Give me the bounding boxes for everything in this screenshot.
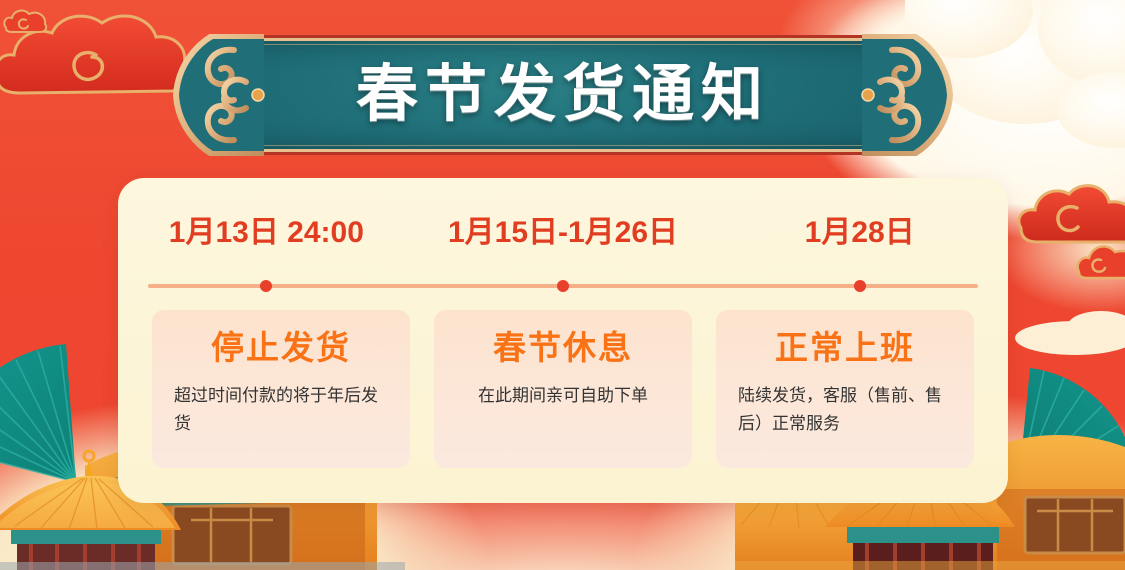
timeline-dot-icon: [854, 280, 866, 292]
timeline-date-cell: 1月13日 24:00: [118, 216, 415, 249]
timeline-dot-icon: [557, 280, 569, 292]
info-card-heading: 停止发货: [174, 330, 388, 366]
timeline-dot-cell: [118, 278, 415, 294]
timeline-date-label: 1月28日: [805, 216, 915, 249]
content-panel: 1月13日 24:00 1月15日-1月26日 1月28日 停止发货: [118, 178, 1008, 503]
info-card-stop-shipping: 停止发货 超过时间付款的将于年后发货: [152, 310, 410, 468]
timeline-dot-cell: [415, 278, 712, 294]
info-card-heading: 正常上班: [738, 330, 952, 366]
page-title: 春节发货通知: [178, 64, 948, 126]
info-card-description: 陆续发货，客服（售前、售后）正常服务: [738, 382, 952, 437]
timeline-date-label: 1月15日-1月26日: [448, 216, 678, 249]
timeline-dates: 1月13日 24:00 1月15日-1月26日 1月28日: [118, 216, 1008, 249]
info-cards: 停止发货 超过时间付款的将于年后发货 春节休息 在此期间亲可自助下单 正常上班 …: [152, 310, 974, 468]
timeline-dot-icon: [260, 280, 272, 292]
info-card-holiday-rest: 春节休息 在此期间亲可自助下单: [434, 310, 692, 468]
info-card-description: 在此期间亲可自助下单: [456, 382, 670, 410]
timeline-date-cell: 1月28日: [711, 216, 1008, 249]
info-card-heading: 春节休息: [456, 330, 670, 366]
timeline-dots: [118, 278, 1008, 294]
timeline-dot-cell: [711, 278, 1008, 294]
timeline-date-label: 1月13日 24:00: [169, 216, 364, 249]
info-card-normal-work: 正常上班 陆续发货，客服（售前、售后）正常服务: [716, 310, 974, 468]
info-card-description: 超过时间付款的将于年后发货: [174, 382, 388, 437]
title-plaque: 春节发货通知: [178, 34, 948, 156]
timeline-date-cell: 1月15日-1月26日: [415, 216, 712, 249]
chinese-new-year-shipping-banner: 春节发货通知 1月13日 24:00 1月15日-1月26日 1月28日: [0, 0, 1125, 570]
